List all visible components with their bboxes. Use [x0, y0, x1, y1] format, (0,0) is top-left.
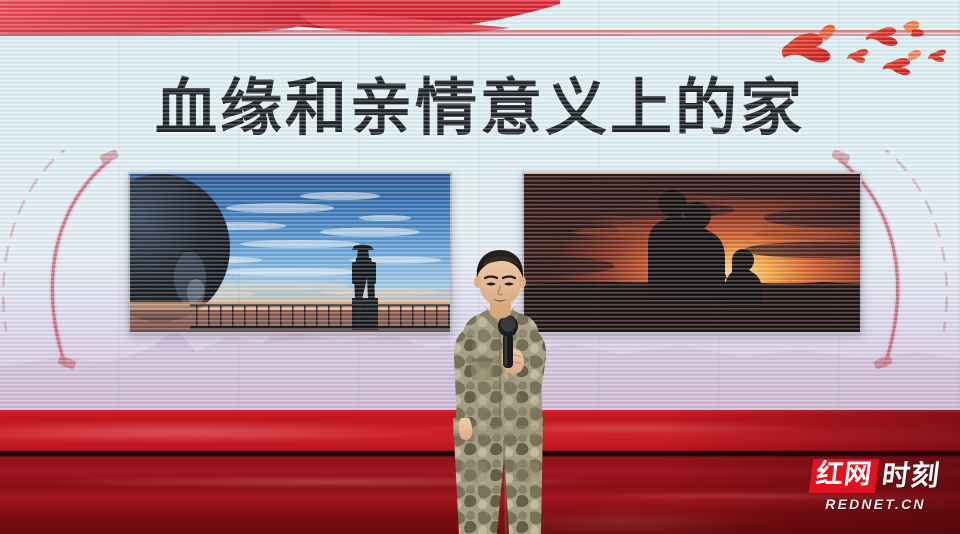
watermark-domain: REDNET.CN — [811, 496, 940, 512]
slide-photo-soldier — [128, 172, 452, 334]
watermark-brand-white: 时刻 — [880, 461, 942, 491]
watermark-brand-red: 红网 — [809, 459, 879, 493]
slide-title: 血缘和亲情意义上的家 — [0, 78, 960, 140]
soldier-silhouette-photo-icon — [130, 174, 450, 332]
watermark-brand-row: 红网 时刻 — [811, 459, 940, 493]
screenshot-root: 血缘和亲情意义上的家 — [0, 0, 960, 534]
rednet-watermark: 红网 时刻 REDNET.CN — [811, 459, 940, 512]
camouflage-speaker-icon — [425, 250, 575, 534]
speaker-figure — [425, 250, 575, 534]
